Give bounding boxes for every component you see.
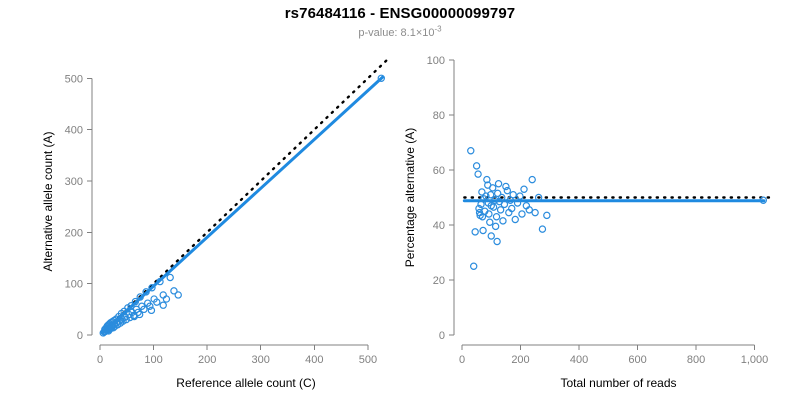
x-axis-tick-label: 400 [305,354,323,366]
data-point [480,227,486,233]
left-plot-svg: 01002003004005000100200300400500Referenc… [0,0,400,400]
data-point [468,148,474,154]
y-axis-tick-label: 200 [65,227,83,239]
y-axis-tick-label: 20 [433,275,445,287]
x-axis-tick-label: 0 [459,354,465,366]
panel-reference-vs-alternative: 01002003004005000100200300400500Referenc… [0,0,400,400]
data-point [512,216,518,222]
y-axis-tick-label: 100 [65,279,83,291]
x-axis-tick-label: 400 [570,354,588,366]
data-point [521,186,527,192]
x-axis-tick-label: 0 [97,354,103,366]
data-point [495,181,501,187]
data-point [167,274,173,280]
x-axis-tick-label: 300 [252,354,270,366]
x-axis-tick-label: 200 [198,354,216,366]
data-point [160,292,166,298]
data-point [494,238,500,244]
data-point [163,296,169,302]
data-point [498,207,504,213]
x-axis-title: Total number of reads [560,376,676,390]
data-point [500,218,506,224]
x-axis-tick-label: 1,000 [741,354,769,366]
x-axis-tick-label: 600 [628,354,646,366]
data-point [160,302,166,308]
data-point [504,188,510,194]
data-point [474,163,480,169]
data-point [475,171,481,177]
y-axis-tick-label: 0 [439,330,445,342]
data-point [503,183,509,189]
data-point [490,185,496,191]
data-point [539,226,545,232]
y-axis-tick-label: 60 [433,165,445,177]
data-point [529,177,535,183]
data-point [175,292,181,298]
data-point [488,233,494,239]
y-axis-tick-label: 400 [65,125,83,137]
x-axis-tick-label: 200 [511,354,529,366]
data-point [517,193,523,199]
y-axis-title: Percentage alternative (A) [403,128,417,267]
y-axis-tick-label: 80 [433,110,445,122]
data-point [510,192,516,198]
data-point [532,210,538,216]
y-axis-title: Alternative allele count (A) [41,131,55,271]
data-point [544,212,550,218]
x-axis-tick-label: 800 [687,354,705,366]
data-point [487,219,493,225]
data-point [472,229,478,235]
y-axis-tick-label: 0 [77,330,83,342]
data-point [519,211,525,217]
x-axis-tick-label: 100 [144,354,162,366]
identity-reference-line [102,58,389,333]
y-axis-tick-label: 100 [427,55,445,67]
data-point [493,223,499,229]
data-point [471,263,477,269]
panel-percentage-vs-reads: 02040608010002004006008001,000Total numb… [400,0,800,400]
y-axis-tick-label: 300 [65,176,83,188]
x-axis-tick-label: 500 [359,354,377,366]
x-axis-title: Reference allele count (C) [176,376,315,390]
right-plot-svg: 02040608010002004006008001,000Total numb… [400,0,800,400]
y-axis-tick-label: 500 [65,73,83,85]
figure-root: rs76484116 - ENSG00000099797 p-value: 8.… [0,0,800,400]
y-axis-tick-label: 40 [433,220,445,232]
data-point [493,214,499,220]
